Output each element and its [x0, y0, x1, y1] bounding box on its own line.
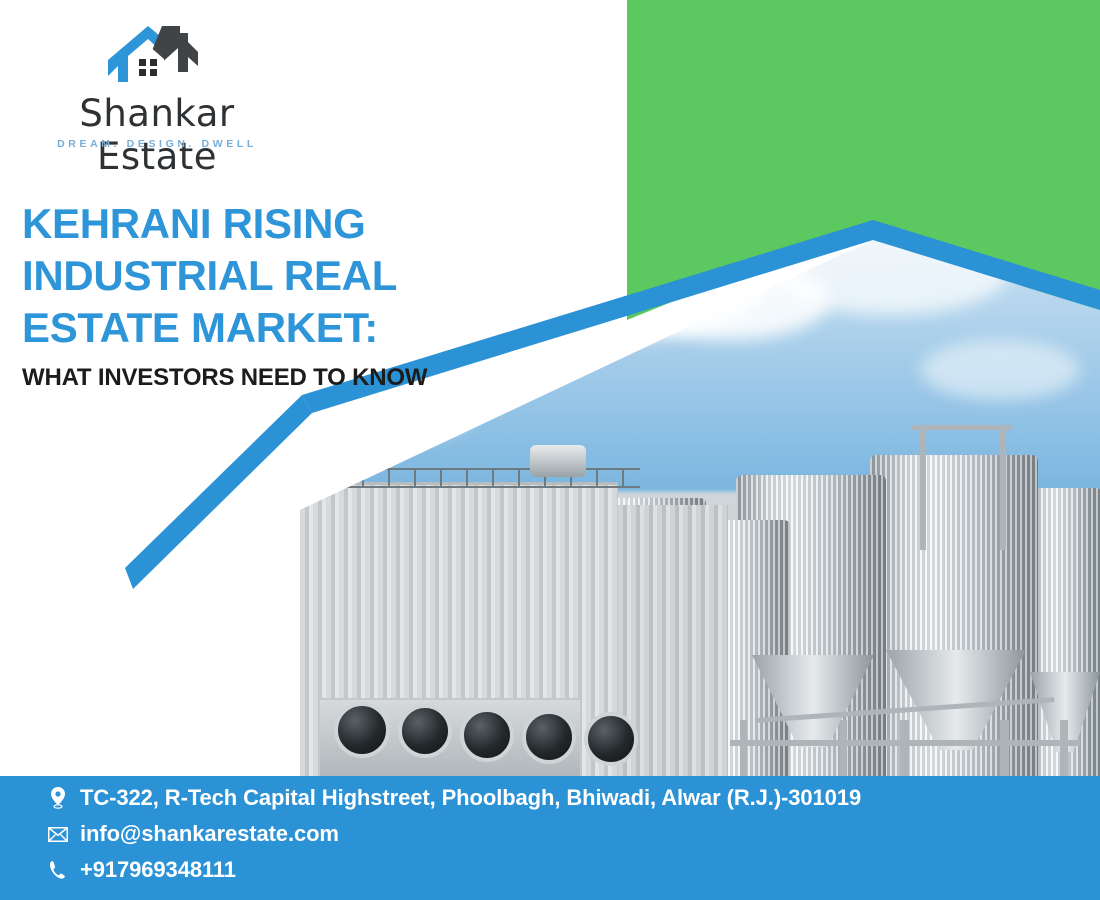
steel-beam [730, 740, 1080, 746]
steel-leg [1000, 720, 1009, 780]
envelope-icon [48, 822, 68, 846]
headline-block: KEHRANI RISING INDUSTRIAL REAL ESTATE MA… [22, 198, 582, 392]
headline-line-1: KEHRANI RISING [22, 198, 582, 250]
steel-leg [840, 720, 847, 780]
headline-line-3: ESTATE MARKET: [22, 302, 582, 354]
brand-logo[interactable]: Shankar Estate DREAM. DESIGN. DWELL [22, 20, 292, 150]
steel-tower-leg [1000, 425, 1006, 550]
contact-email-row[interactable]: info@shankarestate.com [48, 821, 339, 847]
location-pin-icon [48, 786, 68, 810]
steel-tower-beam [912, 425, 1012, 430]
phone-icon [48, 858, 68, 882]
brand-name: Shankar Estate [22, 92, 292, 178]
dust-collector-drum [460, 708, 514, 762]
steel-leg [1060, 720, 1068, 780]
headline-line-2: INDUSTRIAL REAL [22, 250, 582, 302]
steel-leg [900, 720, 909, 780]
dust-collector-drum [334, 702, 390, 758]
double-house-roof-icon [102, 20, 202, 92]
contact-email-text: info@shankarestate.com [80, 821, 339, 847]
poster-canvas: Shankar Estate DREAM. DESIGN. DWELL KEHR… [0, 0, 1100, 900]
contact-phone-text: +917969348111 [80, 857, 236, 883]
contact-phone-row[interactable]: +917969348111 [48, 857, 236, 883]
roof-railing [310, 468, 640, 488]
brand-tagline: DREAM. DESIGN. DWELL [22, 138, 292, 150]
roof-equipment [530, 445, 586, 477]
dust-collector-drum [522, 710, 576, 764]
headline-subheading: WHAT INVESTORS NEED TO KNOW [22, 364, 582, 392]
contact-address-row[interactable]: TC-322, R-Tech Capital Highstreet, Phool… [48, 785, 861, 811]
contact-address-text: TC-322, R-Tech Capital Highstreet, Phool… [80, 785, 861, 811]
cloud-decor [920, 340, 1080, 400]
dust-collector-drum [584, 712, 638, 766]
dust-collector-drum [398, 704, 452, 758]
steel-tower-leg [920, 430, 926, 550]
steel-leg [740, 720, 747, 780]
